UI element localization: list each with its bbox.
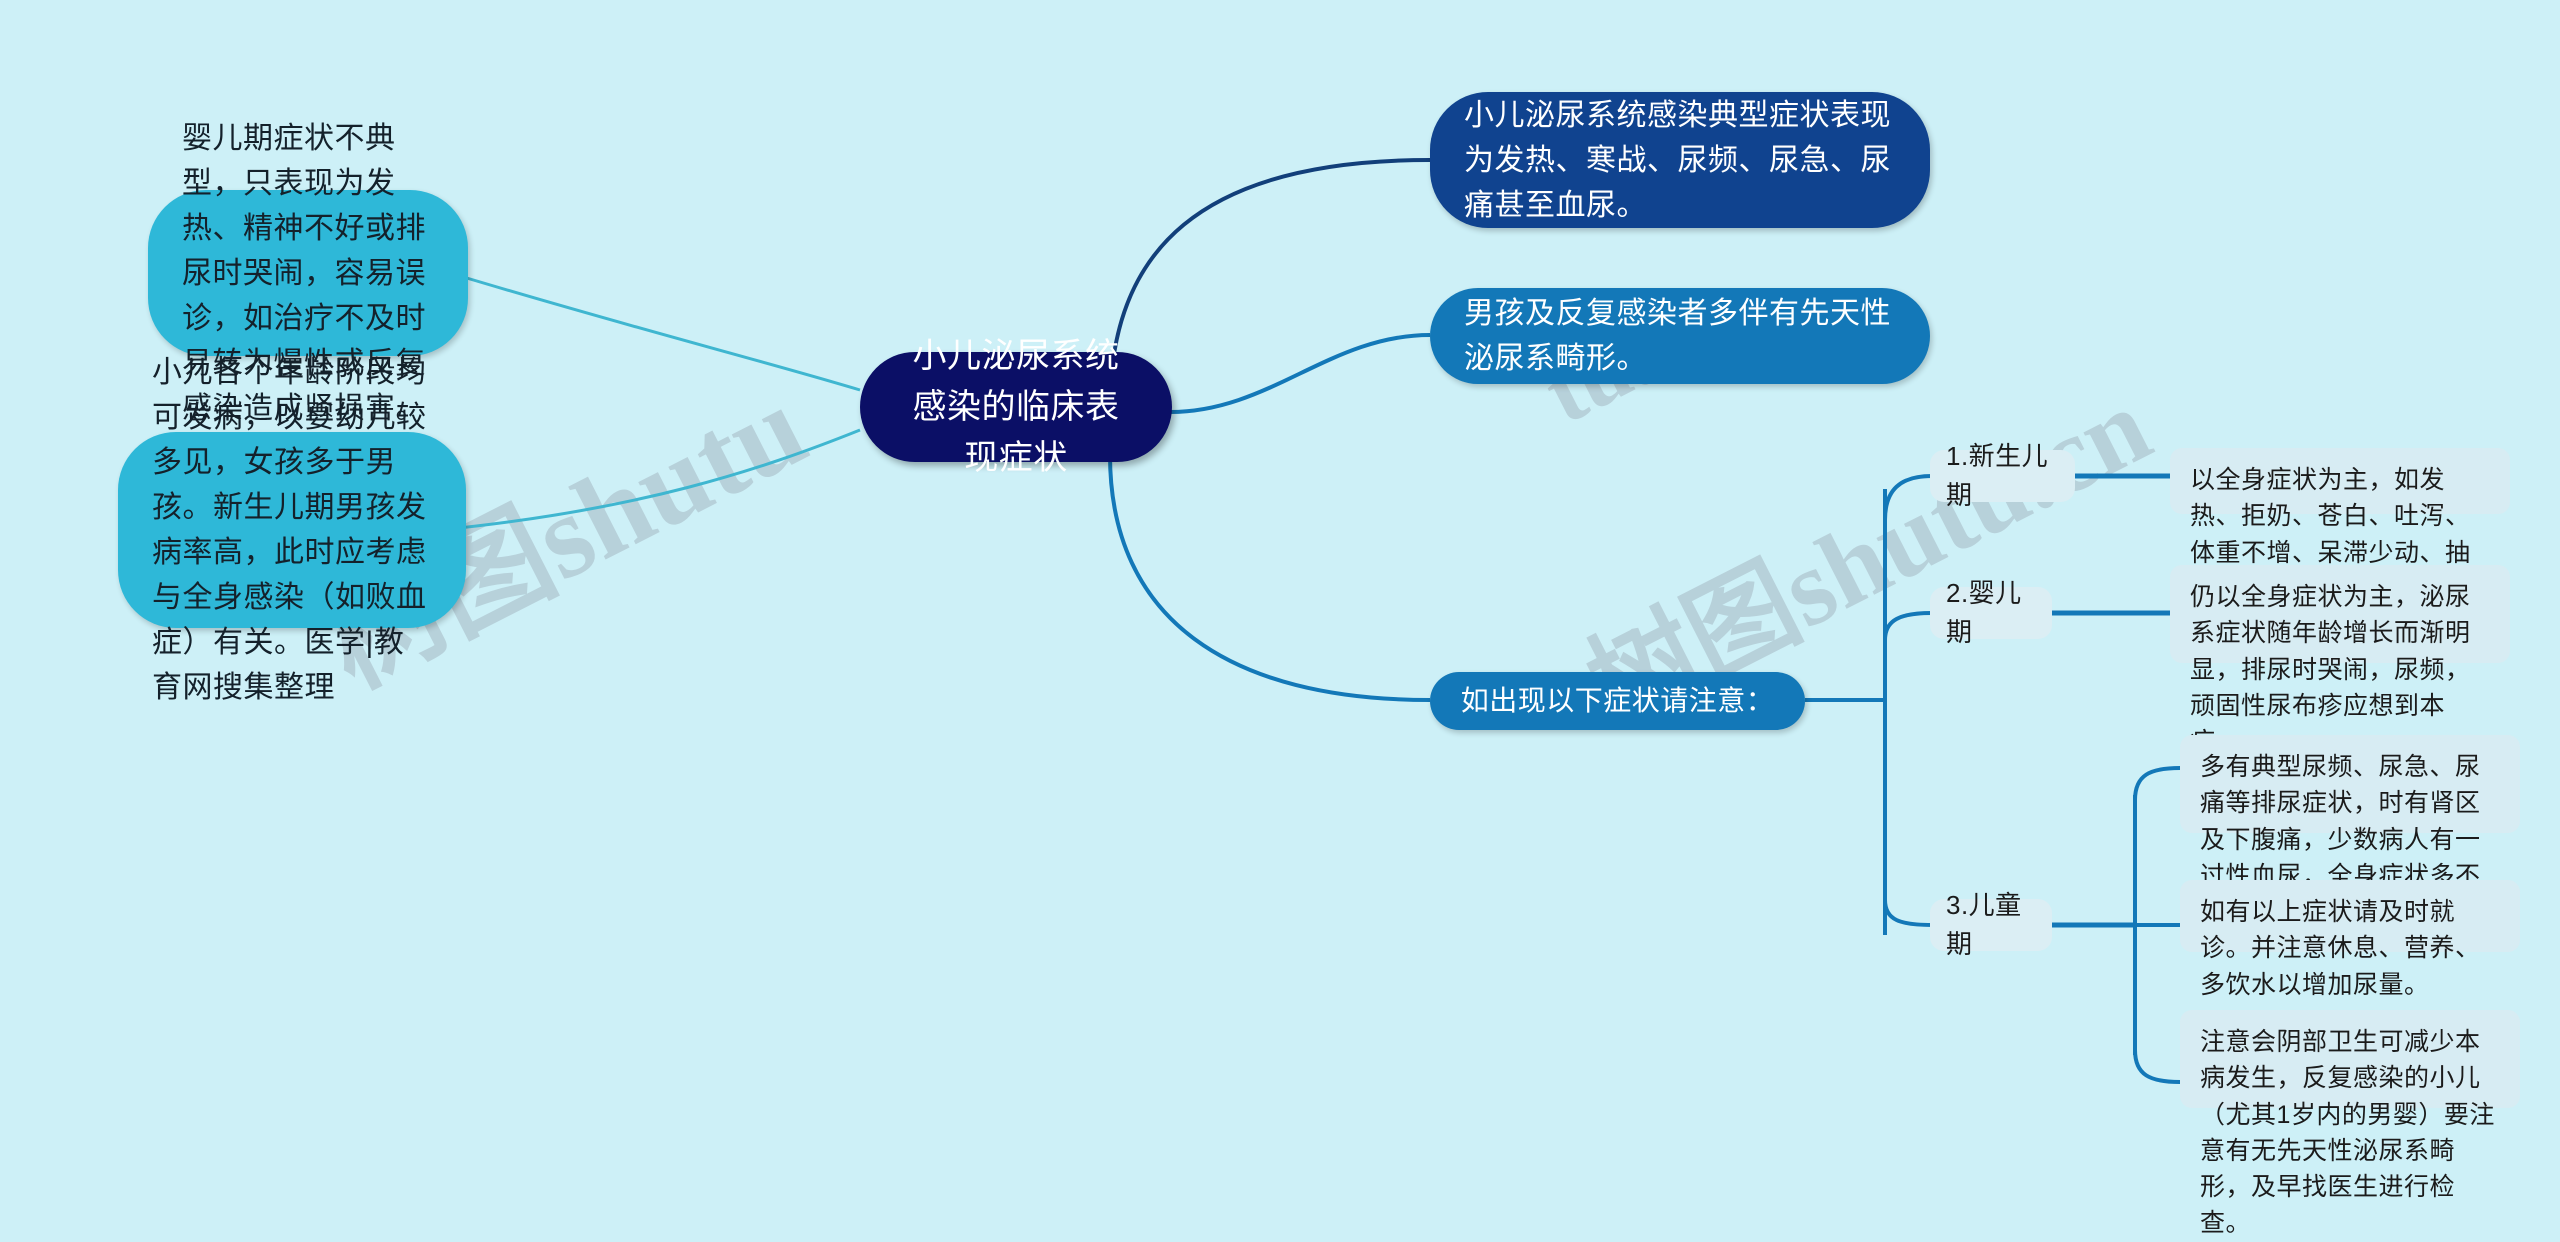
node-age-distribution[interactable]: 小儿各个年龄阶段均可发病，以婴幼儿较多见，女孩多于男孩。新生儿期男孩发病率高，此… [118, 432, 466, 628]
leaf-child-symptoms[interactable]: 多有典型尿频、尿急、尿痛等排尿症状，时有肾区及下腹痛，少数病人有一过性血尿，全身… [2180, 735, 2520, 833]
leaf-infant-symptoms-text: 仍以全身症状为主，泌尿系症状随年龄增长而渐明显，排尿时哭闹，尿频，顽固性尿布疹应… [2190, 579, 2490, 760]
leaf-child-prevention[interactable]: 注意会阴部卫生可减少本病发生，反复感染的小儿（尤其1岁内的男婴）要注意有无先天性… [2180, 1010, 2520, 1108]
node-typical-symptoms-label: 小儿泌尿系统感染典型症状表现为发热、寒战、尿频、尿急、尿痛甚至血尿。 [1464, 93, 1896, 228]
leaf-newborn-symptoms[interactable]: 以全身症状为主，如发热、拒奶、苍白、吐泻、体重不增、呆滞少动、抽搐、黄疸等。 [2170, 448, 2510, 514]
stage-label-newborn[interactable]: 1.新生儿期 [1930, 450, 2075, 502]
node-boys-malformation[interactable]: 男孩及反复感染者多伴有先天性泌尿系畸形。 [1430, 288, 1930, 384]
stage-label-child[interactable]: 3.儿童期 [1930, 899, 2052, 951]
stage-label-infant-text: 2.婴儿期 [1946, 574, 2036, 652]
node-typical-symptoms[interactable]: 小儿泌尿系统感染典型症状表现为发热、寒战、尿频、尿急、尿痛甚至血尿。 [1430, 92, 1930, 228]
stage-label-infant[interactable]: 2.婴儿期 [1930, 587, 2052, 639]
mindmap-canvas: 树图shutu tu.cn 树图shutu.cn [0, 0, 2560, 1197]
node-notice[interactable]: 如出现以下症状请注意： [1430, 672, 1805, 730]
leaf-child-advice-text: 如有以上症状请及时就诊。并注意休息、营养、多饮水以增加尿量。 [2200, 894, 2500, 1003]
node-infant-symptoms[interactable]: 婴儿期症状不典型，只表现为发热、精神不好或排尿时哭闹，容易误诊，如治疗不及时易转… [148, 190, 468, 356]
stage-label-newborn-text: 1.新生儿期 [1946, 437, 2059, 515]
root-node-label: 小儿泌尿系统感染的临床表现症状 [900, 331, 1132, 484]
root-node[interactable]: 小儿泌尿系统感染的临床表现症状 [860, 352, 1172, 462]
leaf-infant-symptoms[interactable]: 仍以全身症状为主，泌尿系症状随年龄增长而渐明显，排尿时哭闹，尿频，顽固性尿布疹应… [2170, 565, 2510, 663]
node-boys-malformation-label: 男孩及反复感染者多伴有先天性泌尿系畸形。 [1464, 291, 1896, 381]
stage-label-child-text: 3.儿童期 [1946, 886, 2036, 964]
node-age-distribution-label: 小儿各个年龄阶段均可发病，以婴幼儿较多见，女孩多于男孩。新生儿期男孩发病率高，此… [152, 350, 432, 710]
node-notice-label: 如出现以下症状请注意： [1461, 680, 1775, 722]
leaf-child-prevention-text: 注意会阴部卫生可减少本病发生，反复感染的小儿（尤其1岁内的男婴）要注意有无先天性… [2200, 1024, 2500, 1242]
leaf-child-advice[interactable]: 如有以上症状请及时就诊。并注意休息、营养、多饮水以增加尿量。 [2180, 880, 2520, 952]
